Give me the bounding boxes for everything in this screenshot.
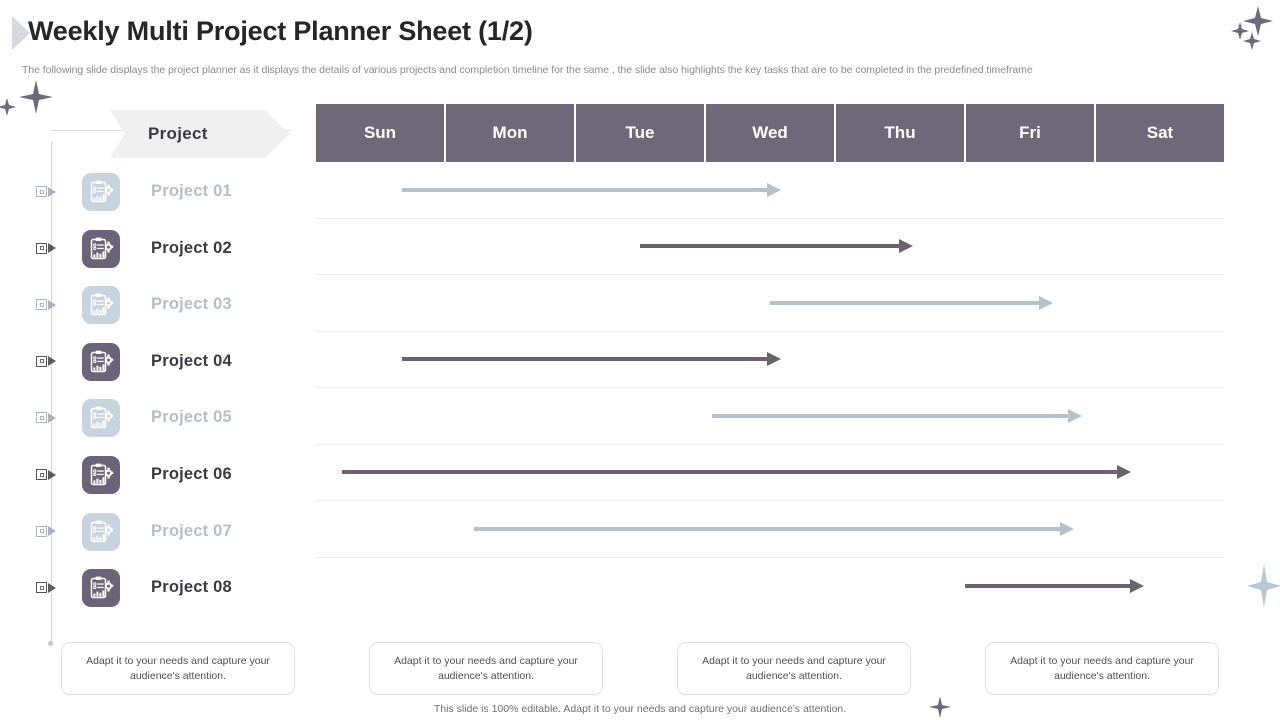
calendar-body bbox=[316, 162, 1224, 614]
gantt-bar-4[interactable] bbox=[402, 357, 770, 361]
calendar-row-3 bbox=[316, 275, 1224, 332]
project-clipboard-gear-icon[interactable] bbox=[82, 230, 120, 268]
project-label-3: Project 03 bbox=[151, 295, 232, 314]
row-marker-square-icon bbox=[36, 356, 47, 367]
project-label-8: Project 08 bbox=[151, 578, 232, 597]
row-marker-6[interactable] bbox=[36, 469, 56, 480]
row-marker-1[interactable] bbox=[36, 186, 56, 197]
note-text: Adapt it to your needs and capture your … bbox=[72, 654, 284, 682]
row-marker-triangle-icon bbox=[48, 526, 56, 536]
calendar-row-1 bbox=[316, 162, 1224, 219]
project-clipboard-gear-icon[interactable] bbox=[82, 399, 120, 437]
calendar-row-8 bbox=[316, 558, 1224, 615]
row-marker-triangle-icon bbox=[48, 470, 56, 480]
row-marker-7[interactable] bbox=[36, 526, 56, 537]
gantt-bar-1[interactable] bbox=[402, 188, 770, 192]
page-subtitle: The following slide displays the project… bbox=[22, 64, 1212, 76]
note-box-4[interactable]: Adapt it to your needs and capture your … bbox=[985, 642, 1219, 695]
row-marker-8[interactable] bbox=[36, 582, 56, 593]
gantt-bar-5[interactable] bbox=[712, 414, 1071, 418]
project-clipboard-gear-icon[interactable] bbox=[82, 456, 120, 494]
calendar-day-header-sun[interactable]: Sun bbox=[316, 104, 446, 162]
row-marker-triangle-icon bbox=[48, 583, 56, 593]
row-marker-square-icon bbox=[36, 469, 47, 480]
gantt-arrow-head-icon bbox=[899, 239, 913, 253]
project-label-2: Project 02 bbox=[151, 239, 232, 258]
calendar-row-5 bbox=[316, 388, 1224, 445]
project-column-ribbon: Project bbox=[110, 110, 290, 158]
gantt-arrow-head-icon bbox=[1068, 409, 1082, 423]
slide-canvas: Weekly Multi Project Planner Sheet (1/2)… bbox=[0, 0, 1280, 720]
sparkle-cluster-top-right-icon bbox=[1228, 2, 1278, 54]
calendar-day-header-wed[interactable]: Wed bbox=[706, 104, 836, 162]
calendar-header-row: SunMonTueWedThuFriSat bbox=[316, 104, 1224, 162]
gantt-arrow-head-icon bbox=[1060, 522, 1074, 536]
gantt-arrow-head-icon bbox=[767, 352, 781, 366]
row-marker-triangle-icon bbox=[48, 300, 56, 310]
project-label-5: Project 05 bbox=[151, 408, 232, 427]
footer-note: This slide is 100% editable. Adapt it to… bbox=[0, 703, 1280, 715]
row-marker-square-icon bbox=[36, 299, 47, 310]
row-marker-triangle-icon bbox=[48, 187, 56, 197]
gantt-bar-2[interactable] bbox=[640, 244, 902, 248]
project-clipboard-gear-icon[interactable] bbox=[82, 173, 120, 211]
row-marker-square-icon bbox=[36, 243, 47, 254]
gantt-bar-7[interactable] bbox=[474, 527, 1063, 531]
note-box-2[interactable]: Adapt it to your needs and capture your … bbox=[369, 642, 603, 695]
gantt-arrow-head-icon bbox=[1130, 579, 1144, 593]
calendar-day-header-sat[interactable]: Sat bbox=[1096, 104, 1224, 162]
row-marker-triangle-icon bbox=[48, 413, 56, 423]
note-text: Adapt it to your needs and capture your … bbox=[996, 654, 1208, 682]
calendar-day-header-fri[interactable]: Fri bbox=[966, 104, 1096, 162]
row-marker-4[interactable] bbox=[36, 356, 56, 367]
gantt-arrow-head-icon bbox=[767, 183, 781, 197]
note-box-1[interactable]: Adapt it to your needs and capture your … bbox=[61, 642, 295, 695]
gantt-bar-8[interactable] bbox=[965, 584, 1134, 588]
row-marker-3[interactable] bbox=[36, 299, 56, 310]
row-marker-5[interactable] bbox=[36, 412, 56, 423]
calendar-day-header-tue[interactable]: Tue bbox=[576, 104, 706, 162]
note-text: Adapt it to your needs and capture your … bbox=[688, 654, 900, 682]
project-clipboard-gear-icon[interactable] bbox=[82, 513, 120, 551]
sparkle-bottom-right-icon bbox=[1248, 558, 1280, 614]
calendar-row-7 bbox=[316, 501, 1224, 558]
calendar-day-header-thu[interactable]: Thu bbox=[836, 104, 966, 162]
note-box-3[interactable]: Adapt it to your needs and capture your … bbox=[677, 642, 911, 695]
row-marker-square-icon bbox=[36, 186, 47, 197]
project-label-4: Project 04 bbox=[151, 352, 232, 371]
calendar-row-4 bbox=[316, 332, 1224, 389]
gantt-arrow-head-icon bbox=[1117, 465, 1131, 479]
project-label-1: Project 01 bbox=[151, 182, 232, 201]
guide-vertical-line bbox=[51, 142, 52, 644]
gantt-bar-6[interactable] bbox=[342, 470, 1120, 474]
project-clipboard-gear-icon[interactable] bbox=[82, 569, 120, 607]
project-clipboard-gear-icon[interactable] bbox=[82, 286, 120, 324]
calendar-day-header-mon[interactable]: Mon bbox=[446, 104, 576, 162]
project-clipboard-gear-icon[interactable] bbox=[82, 343, 120, 381]
page-title: Weekly Multi Project Planner Sheet (1/2) bbox=[28, 16, 533, 47]
row-marker-square-icon bbox=[36, 526, 47, 537]
gantt-bar-3[interactable] bbox=[770, 301, 1042, 305]
project-label-7: Project 07 bbox=[151, 522, 232, 541]
row-marker-square-icon bbox=[36, 582, 47, 593]
gantt-arrow-head-icon bbox=[1039, 296, 1053, 310]
row-marker-triangle-icon bbox=[48, 243, 56, 253]
sparkle-cluster-left-icon bbox=[0, 72, 62, 130]
calendar-row-6 bbox=[316, 445, 1224, 502]
guide-end-dot bbox=[48, 641, 53, 646]
note-text: Adapt it to your needs and capture your … bbox=[380, 654, 592, 682]
row-marker-square-icon bbox=[36, 412, 47, 423]
calendar-grid: SunMonTueWedThuFriSat bbox=[316, 104, 1224, 614]
project-column-label: Project bbox=[148, 124, 208, 144]
project-label-6: Project 06 bbox=[151, 465, 232, 484]
row-marker-2[interactable] bbox=[36, 243, 56, 254]
calendar-row-2 bbox=[316, 219, 1224, 276]
row-marker-triangle-icon bbox=[48, 356, 56, 366]
